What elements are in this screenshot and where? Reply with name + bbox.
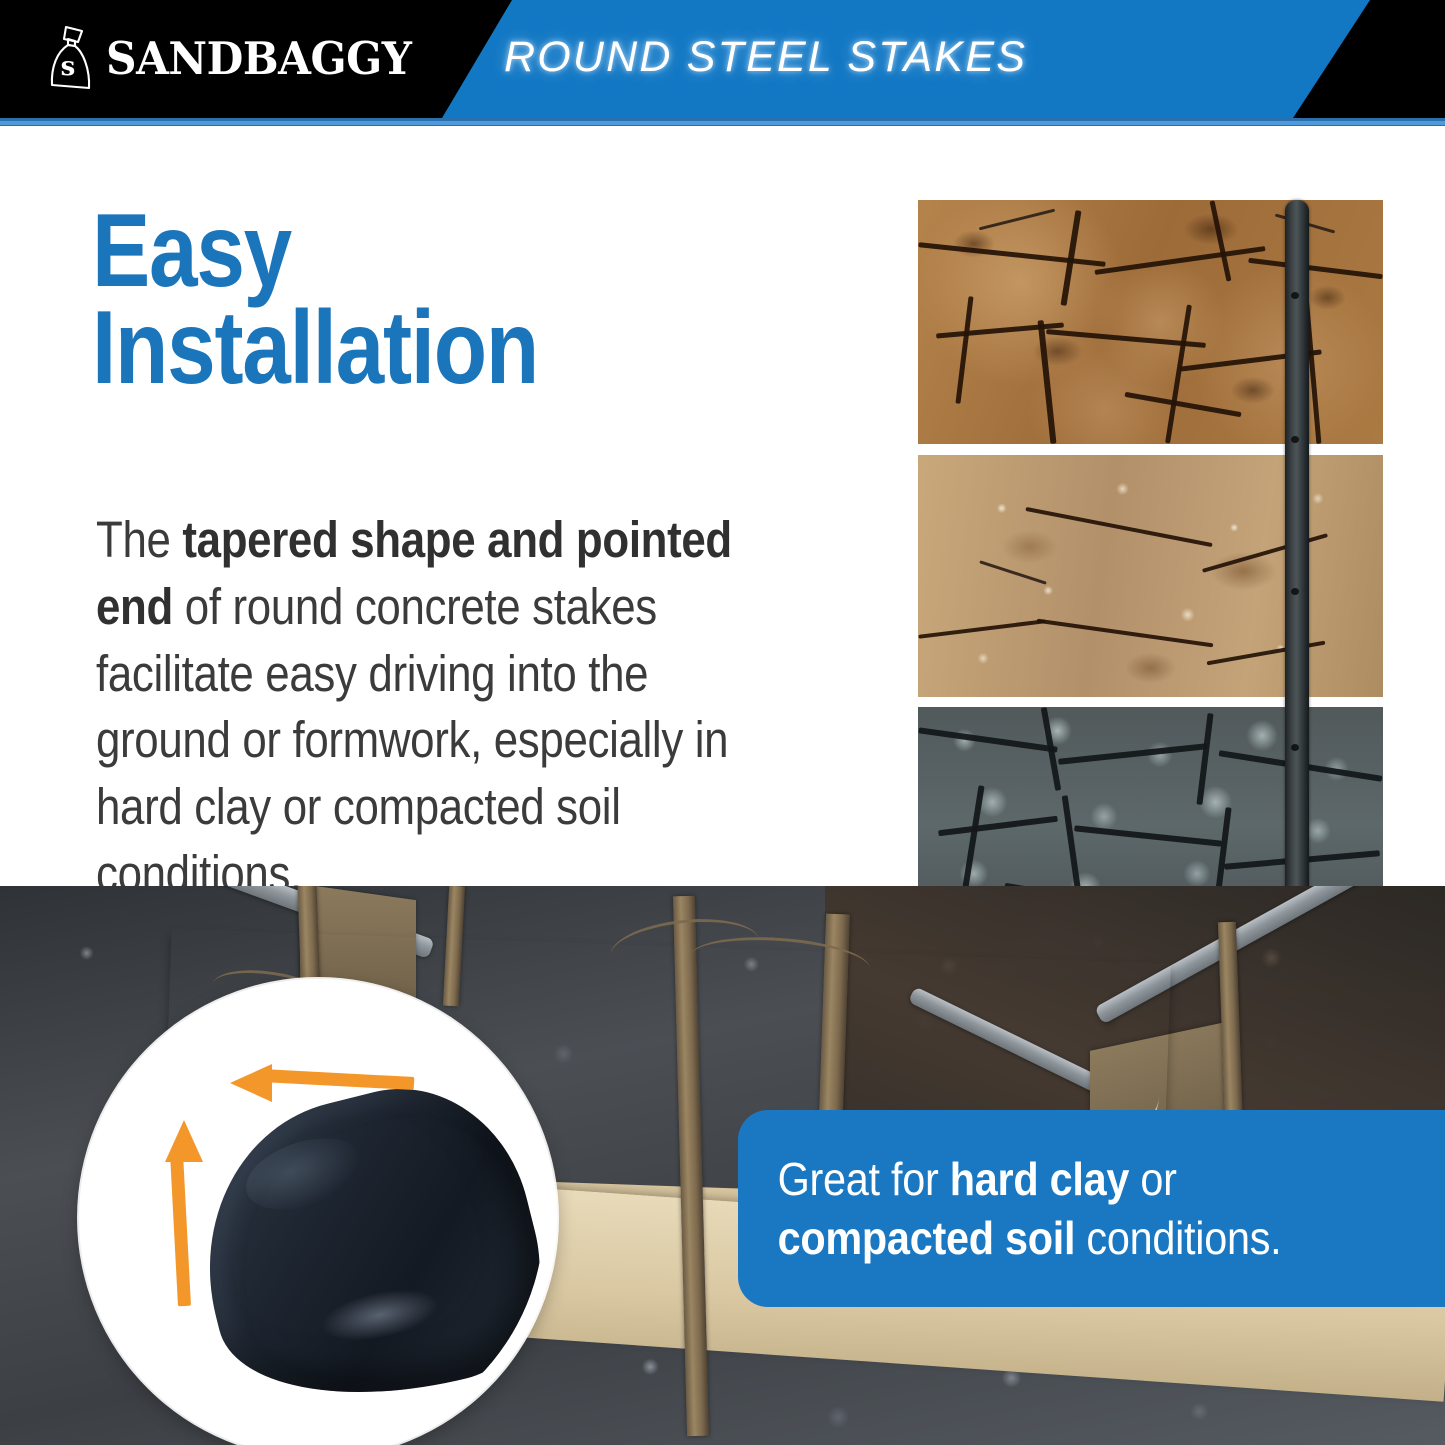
- callout-part-1: Great for: [778, 1153, 950, 1205]
- svg-text:s: s: [61, 52, 76, 82]
- callout-part-2: or: [1129, 1153, 1177, 1205]
- header-underline-highlight: [0, 121, 1445, 125]
- sandbag-icon: s: [48, 25, 94, 91]
- tip-closeup-image: [92, 992, 544, 1444]
- brand-wordmark: SANDBAGGY: [106, 36, 412, 81]
- headline-line-1: Easy: [92, 203, 730, 300]
- soil-panel-cracked-red-clay: [918, 200, 1383, 444]
- header-title: ROUND STEEL STAKES: [504, 33, 1027, 82]
- brand-logo[interactable]: s SANDBAGGY: [48, 22, 431, 94]
- soil-type-gallery: [918, 200, 1383, 945]
- stake-pointed-tip: [173, 1063, 544, 1434]
- body-text-part-1: The: [96, 511, 182, 568]
- soil-texture-tan-rock: [918, 455, 1383, 697]
- callout-bold-2: compacted soil: [778, 1212, 1076, 1264]
- headline-line-2: Installation: [92, 300, 730, 397]
- header-bar: s SANDBAGGY ROUND STEEL STAKES: [0, 0, 1445, 118]
- callout-bold-1: hard clay: [950, 1153, 1129, 1205]
- body-paragraph: The tapered shape and pointed end of rou…: [96, 507, 793, 908]
- product-infographic: s SANDBAGGY ROUND STEEL STAKES Easy Inst…: [0, 0, 1445, 1445]
- soil-texture-red-clay: [918, 200, 1383, 444]
- soil-panel-tan-compacted: [918, 455, 1383, 697]
- tapered-tip-closeup: [79, 979, 557, 1445]
- body-text-part-2: of round concrete stakes facilitate easy…: [96, 578, 728, 902]
- page-title: Easy Installation: [92, 203, 730, 396]
- arrow-up-icon: [176, 1120, 191, 1306]
- arrow-left-icon: [230, 1075, 414, 1090]
- callout-text: Great for hard clay or compacted soil co…: [738, 1150, 1374, 1268]
- round-steel-stake: [1285, 200, 1309, 948]
- callout-banner: Great for hard clay or compacted soil co…: [738, 1110, 1445, 1307]
- callout-part-3: conditions.: [1075, 1212, 1281, 1264]
